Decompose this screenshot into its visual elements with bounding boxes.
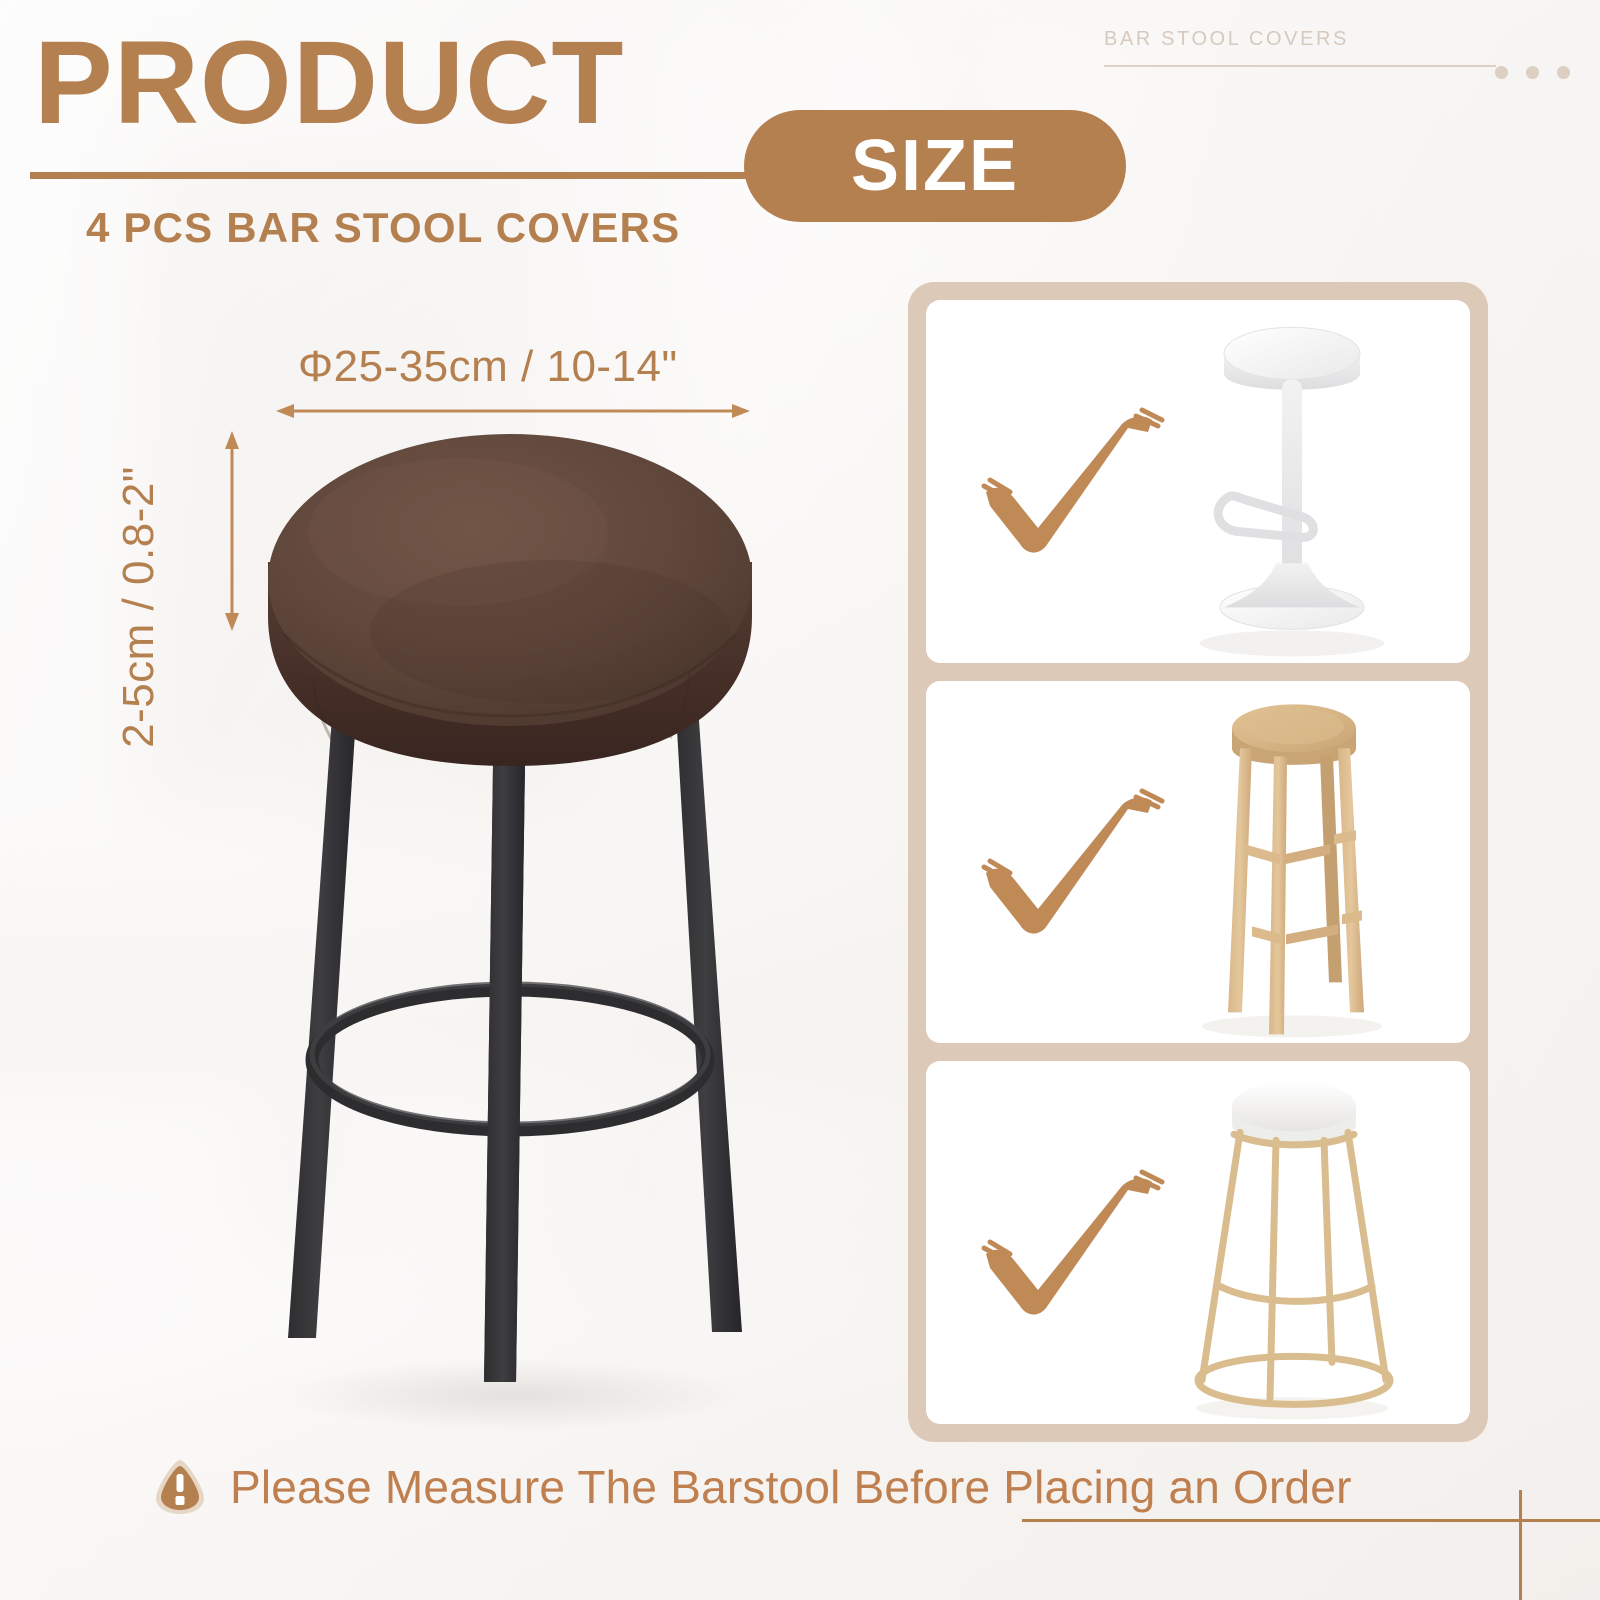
compat-card-white-pedestal-stool bbox=[926, 300, 1470, 663]
eyebrow-dots bbox=[1495, 66, 1570, 79]
product-showcase: Φ25-35cm / 10-14" 2-5cm / 0.8-2" bbox=[0, 300, 860, 1480]
gold-wire-stool-illustration bbox=[1124, 1061, 1454, 1424]
dot-icon bbox=[1526, 66, 1539, 79]
size-badge: SIZE bbox=[744, 110, 1126, 222]
title-divider bbox=[30, 172, 770, 179]
page-subtitle: 4 PCS BAR STOOL COVERS bbox=[86, 204, 680, 252]
measure-note-label: Please Measure The Barstool Before Placi… bbox=[230, 1460, 1352, 1514]
corner-decoration-vertical bbox=[1519, 1490, 1522, 1600]
footer: Please Measure The Barstool Before Placi… bbox=[0, 1440, 1600, 1600]
size-badge-label: SIZE bbox=[851, 125, 1019, 207]
diameter-dimension-arrow bbox=[276, 402, 750, 420]
compat-card-wooden-stool bbox=[926, 681, 1470, 1044]
warning-exclamation-icon bbox=[152, 1458, 208, 1516]
product-stool-image bbox=[250, 420, 770, 1430]
white-pedestal-stool-illustration bbox=[1124, 300, 1454, 663]
height-dimension-label: 2-5cm / 0.8-2" bbox=[114, 442, 164, 772]
eyebrow-label: BAR STOOL COVERS bbox=[1066, 28, 1586, 51]
compat-card-gold-wire-stool bbox=[926, 1061, 1470, 1424]
measure-note: Please Measure The Barstool Before Placi… bbox=[152, 1458, 1352, 1516]
height-dimension-arrow bbox=[222, 431, 242, 631]
corner-decoration-horizontal bbox=[1022, 1519, 1600, 1522]
dot-icon bbox=[1557, 66, 1570, 79]
eyebrow-block: BAR STOOL COVERS bbox=[1066, 28, 1586, 67]
diameter-dimension-label: Φ25-35cm / 10-14" bbox=[298, 342, 678, 392]
eyebrow-divider bbox=[1104, 65, 1496, 67]
page-title: PRODUCT bbox=[34, 24, 624, 142]
compatibility-panel bbox=[908, 282, 1488, 1442]
dot-icon bbox=[1495, 66, 1508, 79]
wooden-stool-illustration bbox=[1124, 681, 1454, 1044]
